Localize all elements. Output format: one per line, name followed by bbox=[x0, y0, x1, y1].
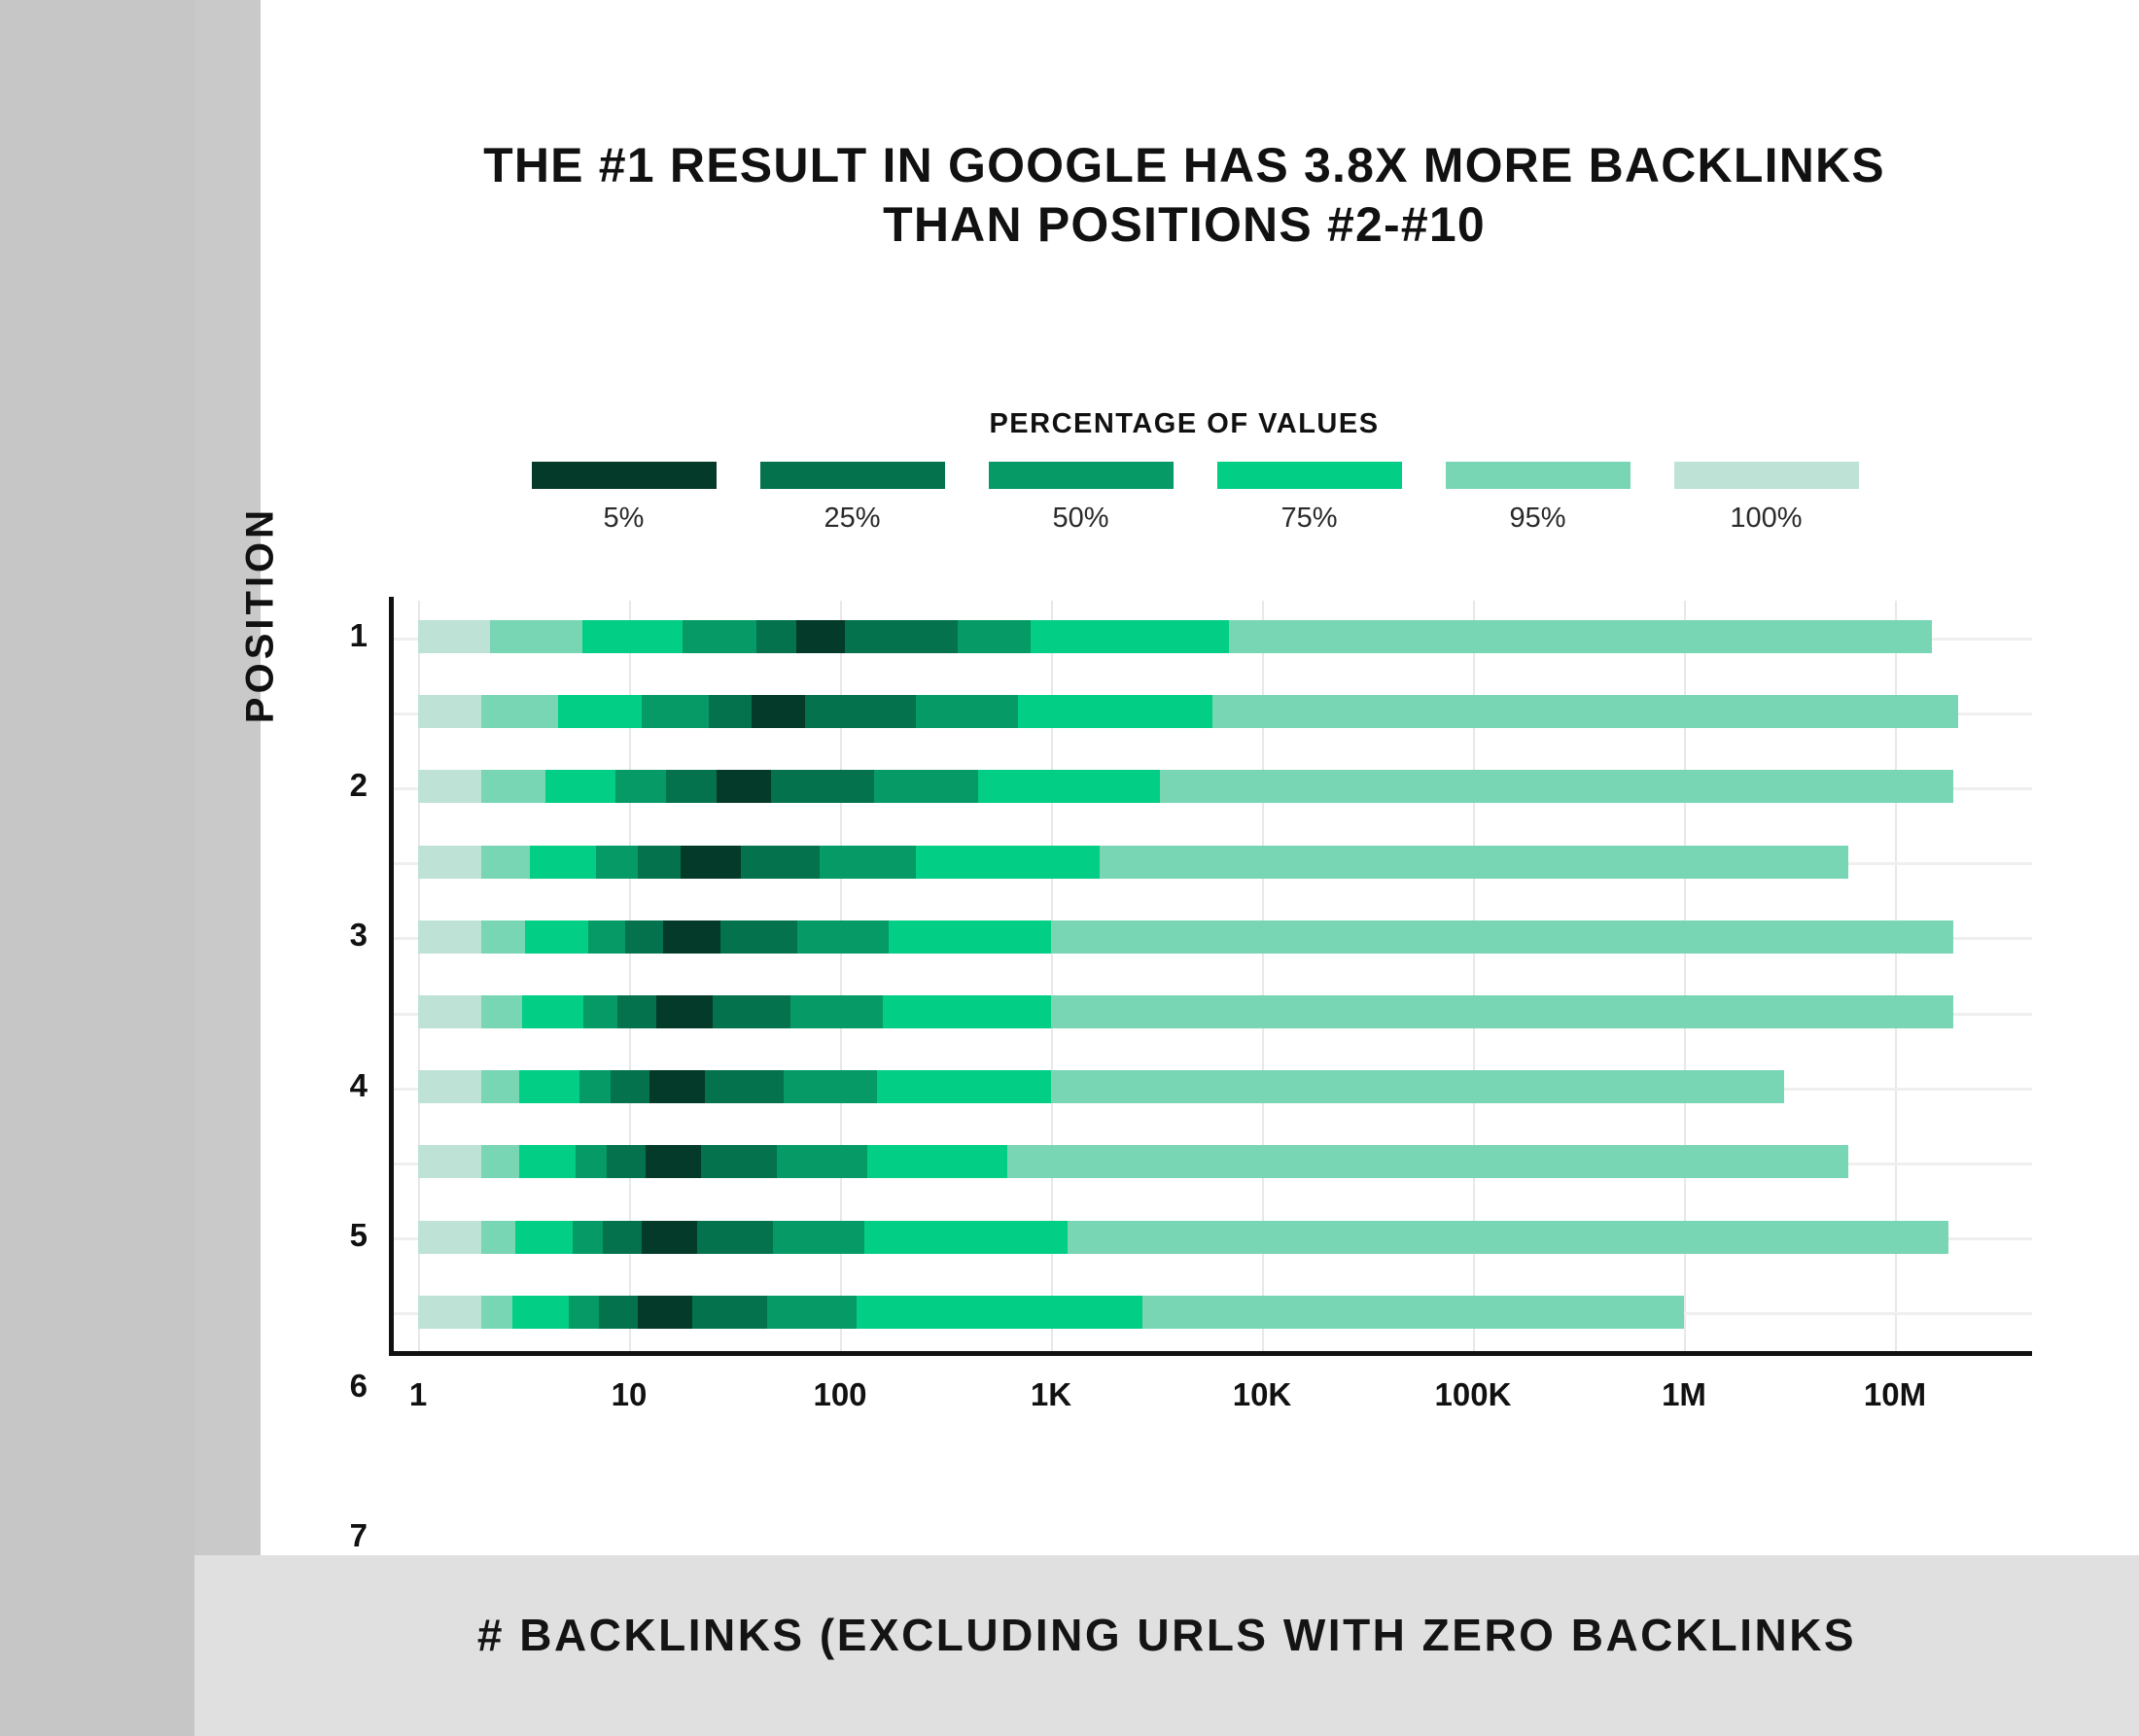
percentile-segment bbox=[642, 695, 709, 728]
percentile-segment bbox=[481, 920, 524, 954]
y-tick-label: 7 bbox=[251, 1517, 368, 1554]
percentile-segment bbox=[515, 1221, 573, 1254]
percentile-segment bbox=[656, 995, 713, 1028]
infographic-page: POSITION THE #1 RESULT IN GOOGLE HAS 3.8… bbox=[0, 0, 2139, 1736]
percentile-segment bbox=[603, 1221, 642, 1254]
legend-label: 100% bbox=[1674, 503, 1859, 535]
x-axis-line bbox=[389, 1351, 2032, 1356]
percentile-segment bbox=[867, 1145, 1007, 1178]
y-tick-label: 2 bbox=[251, 767, 368, 804]
bar-row[interactable]: 2 bbox=[389, 676, 2032, 746]
legend-swatch bbox=[989, 462, 1174, 489]
percentile-segment bbox=[649, 1070, 705, 1103]
percentile-bar[interactable] bbox=[418, 1070, 1784, 1103]
percentile-segment bbox=[418, 1296, 481, 1329]
percentile-segment bbox=[889, 920, 1051, 954]
legend-label: 5% bbox=[532, 503, 717, 535]
legend: PERCENTAGE OF VALUES 5%25%50%75%95%100% bbox=[261, 408, 2108, 535]
percentile-segment bbox=[490, 620, 582, 653]
percentile-segment bbox=[596, 846, 638, 879]
percentile-bar[interactable] bbox=[418, 1145, 1848, 1178]
bar-row[interactable]: 9 bbox=[389, 1201, 2032, 1271]
percentile-segment bbox=[418, 620, 490, 653]
percentile-bar[interactable] bbox=[418, 846, 1848, 879]
percentile-segment bbox=[752, 695, 805, 728]
y-tick-label: 5 bbox=[251, 1217, 368, 1254]
x-tick-label: 100 bbox=[762, 1376, 918, 1413]
percentile-segment bbox=[767, 1296, 857, 1329]
legend-label: 75% bbox=[1217, 503, 1402, 535]
percentile-segment bbox=[418, 920, 481, 954]
percentile-segment bbox=[773, 1221, 864, 1254]
percentile-segment bbox=[481, 1070, 518, 1103]
percentile-segment bbox=[481, 770, 544, 803]
percentile-segment bbox=[1068, 1221, 1948, 1254]
legend-label: 95% bbox=[1446, 503, 1631, 535]
percentile-segment bbox=[1212, 695, 1959, 728]
percentile-segment bbox=[576, 1145, 606, 1178]
legend-item: 75% bbox=[1217, 462, 1402, 535]
page-title-line-2: THAN POSITIONS #2-#10 bbox=[261, 195, 2108, 255]
legend-items: 5%25%50%75%95%100% bbox=[282, 462, 2108, 535]
percentile-segment bbox=[625, 920, 663, 954]
percentile-segment bbox=[720, 920, 798, 954]
percentile-segment bbox=[864, 1221, 1068, 1254]
percentile-segment bbox=[1051, 920, 1953, 954]
percentile-segment bbox=[418, 695, 481, 728]
bar-row[interactable]: 8 bbox=[389, 1126, 2032, 1196]
bar-row[interactable]: 6 bbox=[389, 976, 2032, 1046]
percentile-segment bbox=[663, 920, 720, 954]
percentile-segment bbox=[820, 846, 917, 879]
bar-row[interactable]: 4 bbox=[389, 826, 2032, 896]
legend-item: 100% bbox=[1674, 462, 1859, 535]
percentile-segment bbox=[883, 995, 1051, 1028]
percentile-segment bbox=[615, 770, 666, 803]
percentile-segment bbox=[418, 1145, 481, 1178]
y-tick-label: 4 bbox=[251, 1067, 368, 1104]
percentile-segment bbox=[481, 846, 530, 879]
percentile-segment bbox=[519, 1145, 577, 1178]
percentile-segment bbox=[418, 770, 481, 803]
x-tick-label: 1K bbox=[973, 1376, 1129, 1413]
legend-item: 50% bbox=[989, 462, 1174, 535]
x-tick-label: 10M bbox=[1817, 1376, 1973, 1413]
percentile-segment bbox=[519, 1070, 579, 1103]
percentile-segment bbox=[790, 995, 884, 1028]
percentile-segment bbox=[692, 1296, 766, 1329]
percentile-segment bbox=[481, 1221, 515, 1254]
percentile-segment bbox=[683, 620, 755, 653]
percentile-segment bbox=[599, 1296, 638, 1329]
percentile-segment bbox=[771, 770, 874, 803]
x-tick-label: 100K bbox=[1395, 1376, 1551, 1413]
percentile-segment bbox=[530, 846, 596, 879]
percentile-segment bbox=[481, 695, 557, 728]
percentile-segment bbox=[512, 1296, 569, 1329]
percentile-segment bbox=[1229, 620, 1932, 653]
y-axis-line bbox=[389, 597, 394, 1355]
percentile-segment bbox=[638, 1296, 692, 1329]
percentile-segment bbox=[525, 920, 588, 954]
percentile-bar[interactable] bbox=[418, 620, 1932, 653]
page-title-line-1: THE #1 RESULT IN GOOGLE HAS 3.8X MORE BA… bbox=[261, 136, 2108, 195]
x-tick-label: 1M bbox=[1606, 1376, 1762, 1413]
percentile-segment bbox=[583, 995, 617, 1028]
x-tick-label: 10 bbox=[551, 1376, 707, 1413]
percentile-bar-chart: 12345678910 1101001K10K100K1M10M bbox=[389, 601, 2032, 1351]
percentile-segment bbox=[1007, 1145, 1848, 1178]
percentile-segment bbox=[1031, 620, 1229, 653]
bar-row[interactable]: 5 bbox=[389, 901, 2032, 971]
percentile-segment bbox=[709, 695, 751, 728]
percentile-segment bbox=[666, 770, 717, 803]
percentile-segment bbox=[1160, 770, 1953, 803]
percentile-segment bbox=[638, 846, 681, 879]
legend-swatch bbox=[1446, 462, 1631, 489]
percentile-segment bbox=[588, 920, 625, 954]
percentile-bar[interactable] bbox=[418, 920, 1953, 954]
percentile-segment bbox=[646, 1145, 701, 1178]
bar-row[interactable]: 10 bbox=[389, 1276, 2032, 1346]
percentile-segment bbox=[481, 1145, 518, 1178]
percentile-segment bbox=[681, 846, 742, 879]
page-title: THE #1 RESULT IN GOOGLE HAS 3.8X MORE BA… bbox=[261, 136, 2108, 255]
percentile-bar[interactable] bbox=[418, 695, 1958, 728]
legend-swatch bbox=[760, 462, 945, 489]
percentile-segment bbox=[705, 1070, 783, 1103]
bar-row[interactable]: 1 bbox=[389, 601, 2032, 671]
y-tick-label: 1 bbox=[251, 617, 368, 654]
percentile-segment bbox=[1018, 695, 1211, 728]
percentile-segment bbox=[418, 846, 481, 879]
percentile-bar[interactable] bbox=[418, 1221, 1948, 1254]
percentile-segment bbox=[958, 620, 1031, 653]
legend-swatch bbox=[532, 462, 717, 489]
legend-swatch bbox=[1217, 462, 1402, 489]
percentile-segment bbox=[617, 995, 656, 1028]
percentile-segment bbox=[805, 695, 917, 728]
legend-label: 25% bbox=[760, 503, 945, 535]
percentile-segment bbox=[701, 1145, 776, 1178]
y-tick-label: 3 bbox=[251, 917, 368, 954]
percentile-segment bbox=[579, 1070, 612, 1103]
x-tick-label: 10K bbox=[1184, 1376, 1340, 1413]
bar-row[interactable]: 7 bbox=[389, 1051, 2032, 1121]
percentile-segment bbox=[874, 770, 978, 803]
percentile-segment bbox=[756, 620, 796, 653]
percentile-segment bbox=[642, 1221, 697, 1254]
percentile-segment bbox=[717, 770, 771, 803]
percentile-segment bbox=[582, 620, 684, 653]
left-rail bbox=[0, 0, 194, 1736]
percentile-segment bbox=[796, 620, 845, 653]
percentile-segment bbox=[741, 846, 820, 879]
percentile-segment bbox=[481, 995, 521, 1028]
legend-swatch bbox=[1674, 462, 1859, 489]
percentile-segment bbox=[481, 1296, 512, 1329]
percentile-segment bbox=[558, 695, 642, 728]
percentile-segment bbox=[418, 1221, 481, 1254]
bar-row[interactable]: 3 bbox=[389, 750, 2032, 820]
percentile-segment bbox=[573, 1221, 603, 1254]
percentile-segment bbox=[916, 695, 1018, 728]
percentile-segment bbox=[797, 920, 889, 954]
percentile-segment bbox=[611, 1070, 649, 1103]
percentile-segment bbox=[418, 995, 481, 1028]
percentile-segment bbox=[1051, 1070, 1785, 1103]
percentile-segment bbox=[545, 770, 615, 803]
legend-label: 50% bbox=[989, 503, 1174, 535]
legend-item: 25% bbox=[760, 462, 945, 535]
percentile-segment bbox=[607, 1145, 647, 1178]
percentile-segment bbox=[1100, 846, 1848, 879]
x-axis-title: # BACKLINKS (EXCLUDING URLS WITH ZERO BA… bbox=[194, 1609, 2139, 1661]
percentile-bar[interactable] bbox=[418, 770, 1953, 803]
percentile-segment bbox=[916, 846, 1100, 879]
legend-item: 95% bbox=[1446, 462, 1631, 535]
percentile-segment bbox=[522, 995, 584, 1028]
percentile-bar[interactable] bbox=[418, 1296, 1684, 1329]
percentile-segment bbox=[777, 1145, 868, 1178]
x-tick-label: 1 bbox=[340, 1376, 496, 1413]
percentile-segment bbox=[1051, 995, 1953, 1028]
percentile-segment bbox=[569, 1296, 599, 1329]
percentile-segment bbox=[713, 995, 789, 1028]
legend-item: 5% bbox=[532, 462, 717, 535]
legend-title: PERCENTAGE OF VALUES bbox=[261, 408, 2108, 440]
percentile-segment bbox=[845, 620, 958, 653]
percentile-segment bbox=[784, 1070, 877, 1103]
percentile-segment bbox=[877, 1070, 1051, 1103]
percentile-bar[interactable] bbox=[418, 995, 1953, 1028]
percentile-segment bbox=[418, 1070, 481, 1103]
percentile-segment bbox=[978, 770, 1161, 803]
percentile-segment bbox=[697, 1221, 773, 1254]
percentile-segment bbox=[1142, 1296, 1684, 1329]
percentile-segment bbox=[857, 1296, 1141, 1329]
